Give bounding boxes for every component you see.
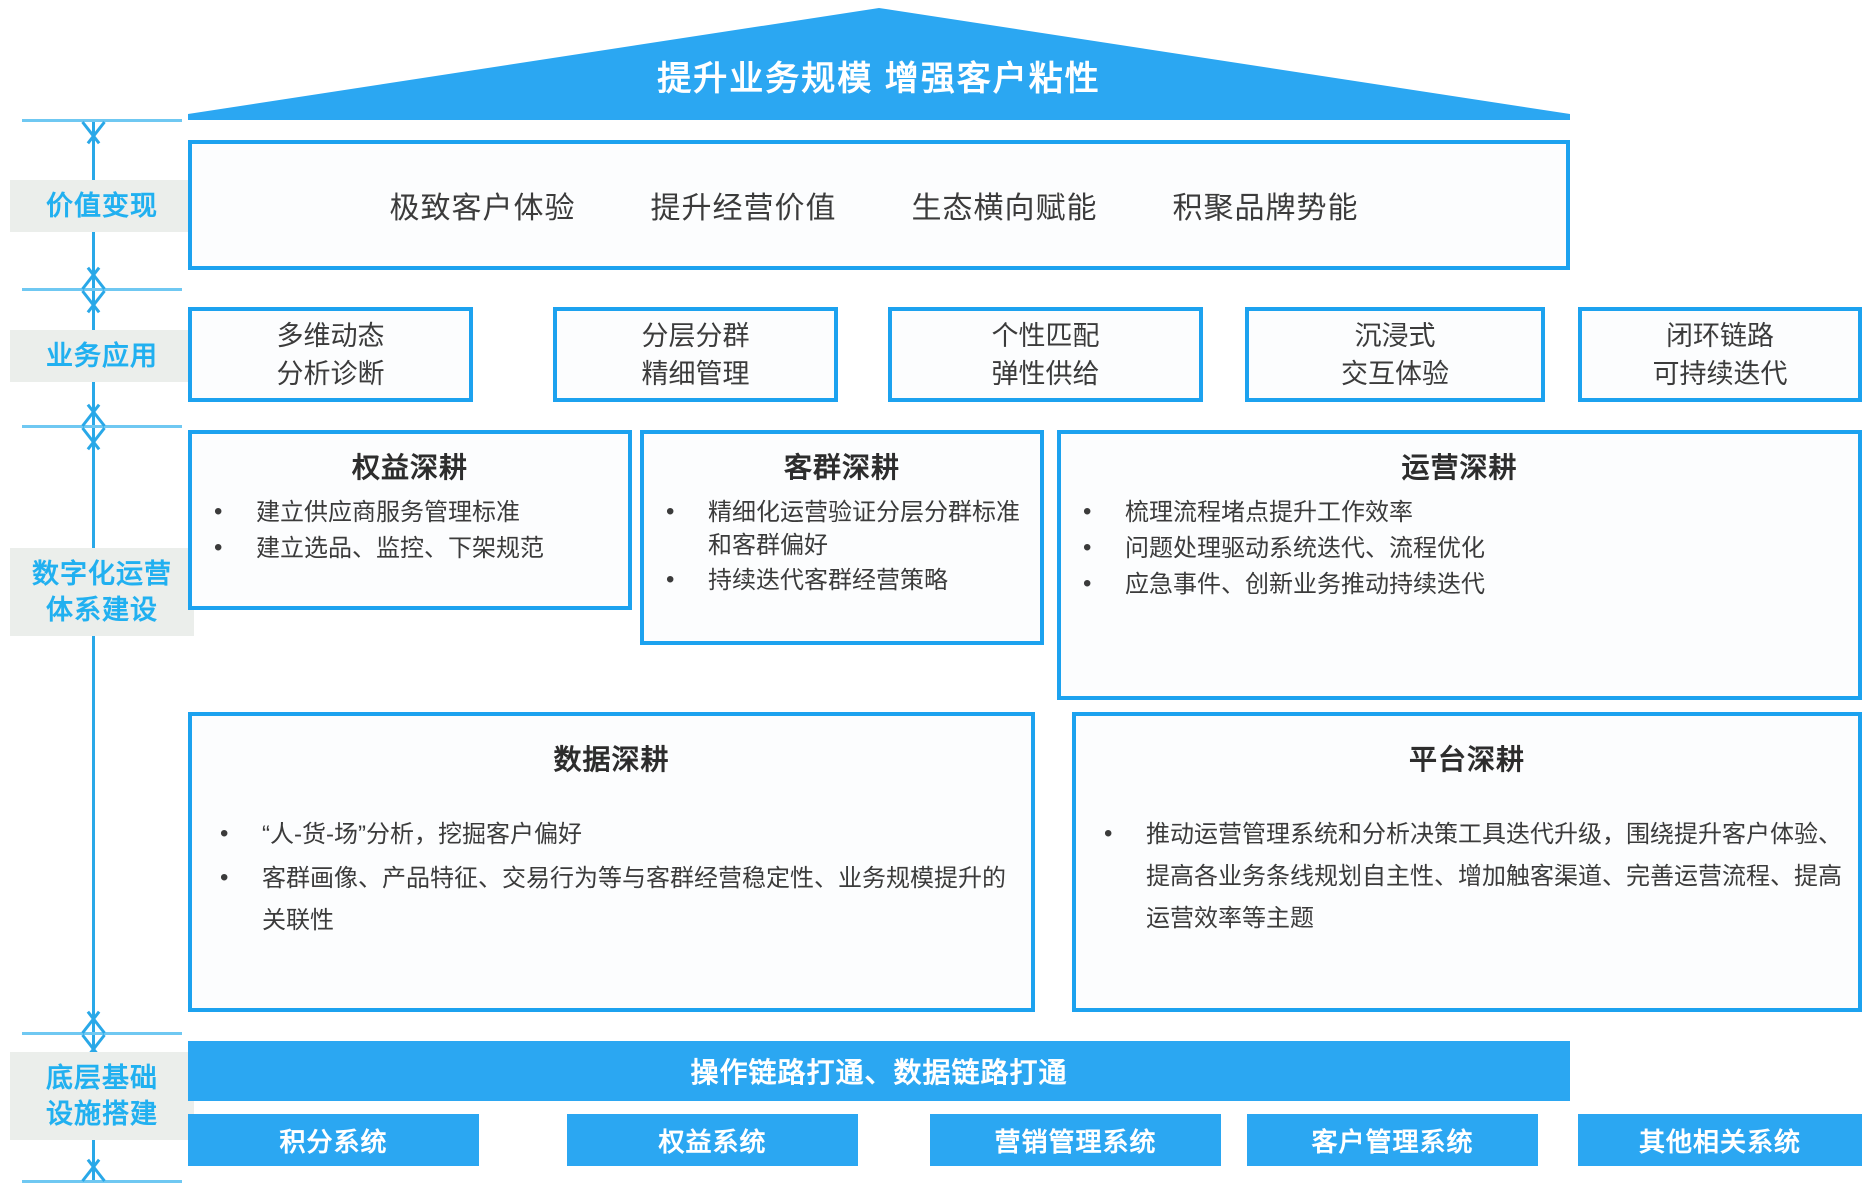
system-box-other[interactable]: 其他相关系统 — [1578, 1114, 1862, 1166]
value-item-2: 提升经营价值 — [651, 183, 837, 227]
rail-label-infrastructure-line2: 设施搭建 — [10, 1096, 194, 1132]
deep-box-data-bullet-1: “人-货-场”分析，挖掘客户偏好 — [216, 814, 1017, 856]
app-box-4[interactable]: 沉浸式 交互体验 — [1245, 307, 1545, 402]
system-box-points[interactable]: 积分系统 — [188, 1114, 479, 1166]
value-item-4: 积聚品牌势能 — [1173, 183, 1359, 227]
deep-box-data-bullet-2: 客群画像、产品特征、交易行为等与客群经营稳定性、业务规模提升的关联性 — [216, 858, 1017, 942]
app-box-2-line1: 分层分群 — [642, 317, 750, 355]
rail-label-value-realization: 价值变现 — [10, 180, 194, 232]
deep-box-customer-group-bullet-1: 精细化运营验证分层分群标准和客群偏好 — [662, 496, 1026, 562]
deep-box-rights-bullet-2: 建立选品、监控、下架规范 — [210, 532, 614, 566]
app-box-1-line2: 分析诊断 — [277, 355, 385, 393]
app-box-2[interactable]: 分层分群 精细管理 — [553, 307, 838, 402]
system-box-marketing[interactable]: 营销管理系统 — [930, 1114, 1221, 1166]
app-box-5[interactable]: 闭环链路 可持续迭代 — [1578, 307, 1862, 402]
rail-label-digital-operation: 数字化运营 体系建设 — [10, 548, 194, 636]
deep-box-rights[interactable]: 权益深耕 建立供应商服务管理标准 建立选品、监控、下架规范 — [188, 430, 632, 610]
app-box-3-line1: 个性匹配 — [992, 317, 1100, 355]
rail-label-infrastructure: 底层基础 设施搭建 — [10, 1052, 194, 1140]
deep-box-operations-bullets: 梳理流程堵点提升工作效率 问题处理驱动系统迭代、流程优化 应急事件、创新业务推动… — [1061, 496, 1858, 602]
roof-banner: 提升业务规模 增强客户粘性 — [188, 8, 1570, 120]
value-item-1: 极致客户体验 — [390, 183, 576, 227]
deep-box-customer-group-bullets: 精细化运营验证分层分群标准和客群偏好 持续迭代客群经营策略 — [644, 496, 1040, 597]
deep-box-rights-bullets: 建立供应商服务管理标准 建立选品、监控、下架规范 — [192, 496, 628, 566]
app-box-1[interactable]: 多维动态 分析诊断 — [188, 307, 473, 402]
deep-box-platform-bullet-1: 推动运营管理系统和分析决策工具迭代升级，围绕提升客户体验、提高各业务条线规划自主… — [1100, 814, 1844, 940]
app-box-4-line1: 沉浸式 — [1355, 317, 1436, 355]
rail-arrow-down-3 — [72, 1006, 114, 1032]
rail-arrow-down-2 — [72, 399, 114, 425]
deep-box-platform-title: 平台深耕 — [1076, 738, 1858, 778]
rail-arrow-down-4 — [72, 1154, 114, 1180]
deep-box-platform[interactable]: 平台深耕 推动运营管理系统和分析决策工具迭代升级，围绕提升客户体验、提高各业务条… — [1072, 712, 1862, 1012]
app-box-5-line1: 闭环链路 — [1666, 317, 1774, 355]
rail-arrow-up-1 — [72, 122, 114, 148]
rail-arrow-down-1 — [72, 262, 114, 288]
value-realization-panel: 极致客户体验 提升经营价值 生态横向赋能 积聚品牌势能 — [188, 140, 1570, 270]
app-box-3-line2: 弹性供给 — [992, 355, 1100, 393]
deep-box-rights-bullet-1: 建立供应商服务管理标准 — [210, 496, 614, 530]
deep-box-operations-bullet-2: 问题处理驱动系统迭代、流程优化 — [1079, 532, 1844, 566]
rail-arrow-up-2 — [72, 291, 114, 317]
deep-box-data[interactable]: 数据深耕 “人-货-场”分析，挖掘客户偏好 客群画像、产品特征、交易行为等与客群… — [188, 712, 1035, 1012]
deep-box-operations-title: 运营深耕 — [1061, 446, 1858, 486]
diagram-canvas: 价值变现 业务应用 数字化运营 体系建设 底层基础 设施搭建 提升业务规模 增强… — [0, 0, 1876, 1186]
rail-label-digital-operation-line2: 体系建设 — [10, 592, 194, 628]
app-box-2-line2: 精细管理 — [642, 355, 750, 393]
rail-label-business-application: 业务应用 — [10, 330, 194, 382]
app-box-4-line2: 交互体验 — [1341, 355, 1449, 393]
deep-box-operations-bullet-1: 梳理流程堵点提升工作效率 — [1079, 496, 1844, 530]
deep-box-rights-title: 权益深耕 — [192, 446, 628, 486]
system-box-rights[interactable]: 权益系统 — [567, 1114, 858, 1166]
app-box-1-line1: 多维动态 — [277, 317, 385, 355]
deep-box-data-title: 数据深耕 — [192, 738, 1031, 778]
rail-arrow-up-3 — [72, 428, 114, 454]
deep-box-operations-bullet-3: 应急事件、创新业务推动持续迭代 — [1079, 568, 1844, 602]
app-box-3[interactable]: 个性匹配 弹性供给 — [888, 307, 1203, 402]
layer-rail: 价值变现 业务应用 数字化运营 体系建设 底层基础 设施搭建 — [0, 0, 200, 1186]
deep-box-customer-group[interactable]: 客群深耕 精细化运营验证分层分群标准和客群偏好 持续迭代客群经营策略 — [640, 430, 1044, 645]
deep-box-customer-group-title: 客群深耕 — [644, 446, 1040, 486]
rail-label-infrastructure-line1: 底层基础 — [10, 1060, 194, 1096]
system-box-customer[interactable]: 客户管理系统 — [1247, 1114, 1538, 1166]
deep-box-platform-bullets: 推动运营管理系统和分析决策工具迭代升级，围绕提升客户体验、提高各业务条线规划自主… — [1076, 814, 1858, 940]
deep-box-customer-group-bullet-2: 持续迭代客群经营策略 — [662, 564, 1026, 597]
deep-box-data-bullets: “人-货-场”分析，挖掘客户偏好 客群画像、产品特征、交易行为等与客群经营稳定性… — [192, 814, 1031, 942]
roof-title: 提升业务规模 增强客户粘性 — [188, 8, 1570, 120]
value-item-3: 生态横向赋能 — [912, 183, 1098, 227]
deep-box-operations[interactable]: 运营深耕 梳理流程堵点提升工作效率 问题处理驱动系统迭代、流程优化 应急事件、创… — [1057, 430, 1862, 700]
infra-link-bar: 操作链路打通、数据链路打通 — [188, 1041, 1570, 1101]
rail-axis-3 — [92, 428, 95, 1032]
app-box-5-line2: 可持续迭代 — [1653, 355, 1788, 393]
rail-label-digital-operation-line1: 数字化运营 — [10, 556, 194, 592]
